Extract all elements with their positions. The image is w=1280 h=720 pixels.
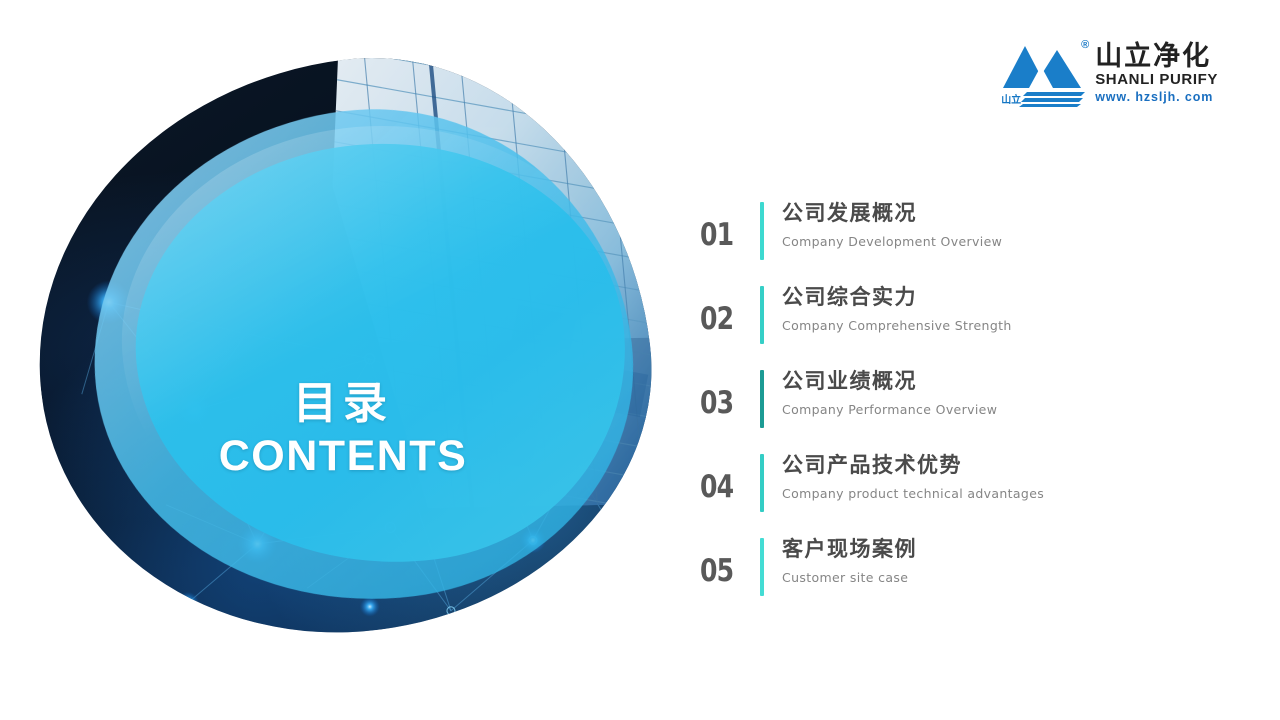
logo-name-cn: 山立净化 [1095,43,1218,70]
toc-title-en: Customer site case [782,570,1220,585]
contents-blob-graphic: 目录 CONTENTS [38,62,648,632]
logo-mark-text-cn: 山立 [1001,91,1021,106]
logo-website: www. hzsljh. com [1095,90,1218,106]
company-logo: ® 山立 山立净化 SHANLI PURIFY www. hzsljh. com [1001,36,1218,108]
table-of-contents: 01 公司发展概况 Company Development Overview 0… [700,196,1220,616]
toc-title-en: Company Performance Overview [782,402,1220,417]
toc-accent-bar [760,286,764,344]
toc-item-05[interactable]: 05 客户现场案例 Customer site case [700,532,1220,616]
toc-title-cn: 公司发展概况 [782,199,1220,227]
toc-text-group: 公司产品技术优势 Company product technical advan… [782,448,1220,501]
registered-mark: ® [1081,39,1089,51]
toc-title-en: Company Comprehensive Strength [782,318,1220,333]
toc-number: 04 [700,448,749,503]
logo-name-en: SHANLI PURIFY [1095,70,1218,90]
toc-accent-bar [760,202,764,260]
toc-number: 02 [700,280,749,335]
toc-accent-bar [760,454,764,512]
toc-title-cn: 公司业绩概况 [782,367,1220,395]
blob-clip [6,27,681,667]
toc-item-02[interactable]: 02 公司综合实力 Company Comprehensive Strength [700,280,1220,364]
slide-canvas: 目录 CONTENTS ® 山立 山立净化 SHANLI PURIFY www.… [0,0,1280,720]
toc-text-group: 公司综合实力 Company Comprehensive Strength [782,280,1220,333]
toc-accent-bar [760,538,764,596]
toc-item-01[interactable]: 01 公司发展概况 Company Development Overview [700,196,1220,280]
toc-number: 01 [700,196,749,251]
toc-title-cn: 公司综合实力 [782,283,1220,311]
toc-text-group: 公司发展概况 Company Development Overview [782,196,1220,249]
toc-title-en: Company product technical advantages [782,486,1220,501]
toc-number: 05 [700,532,749,587]
toc-text-group: 客户现场案例 Customer site case [782,532,1220,585]
toc-title-cn: 公司产品技术优势 [782,451,1220,479]
toc-item-04[interactable]: 04 公司产品技术优势 Company product technical ad… [700,448,1220,532]
toc-title-cn: 客户现场案例 [782,535,1220,563]
toc-accent-bar [760,370,764,428]
logo-wordmark: 山立净化 SHANLI PURIFY www. hzsljh. com [1095,43,1218,108]
shanli-mountain-mark-icon: ® 山立 [1001,36,1087,108]
toc-text-group: 公司业绩概况 Company Performance Overview [782,364,1220,417]
toc-title-en: Company Development Overview [782,234,1220,249]
toc-number: 03 [700,364,749,419]
toc-item-03[interactable]: 03 公司业绩概况 Company Performance Overview [700,364,1220,448]
